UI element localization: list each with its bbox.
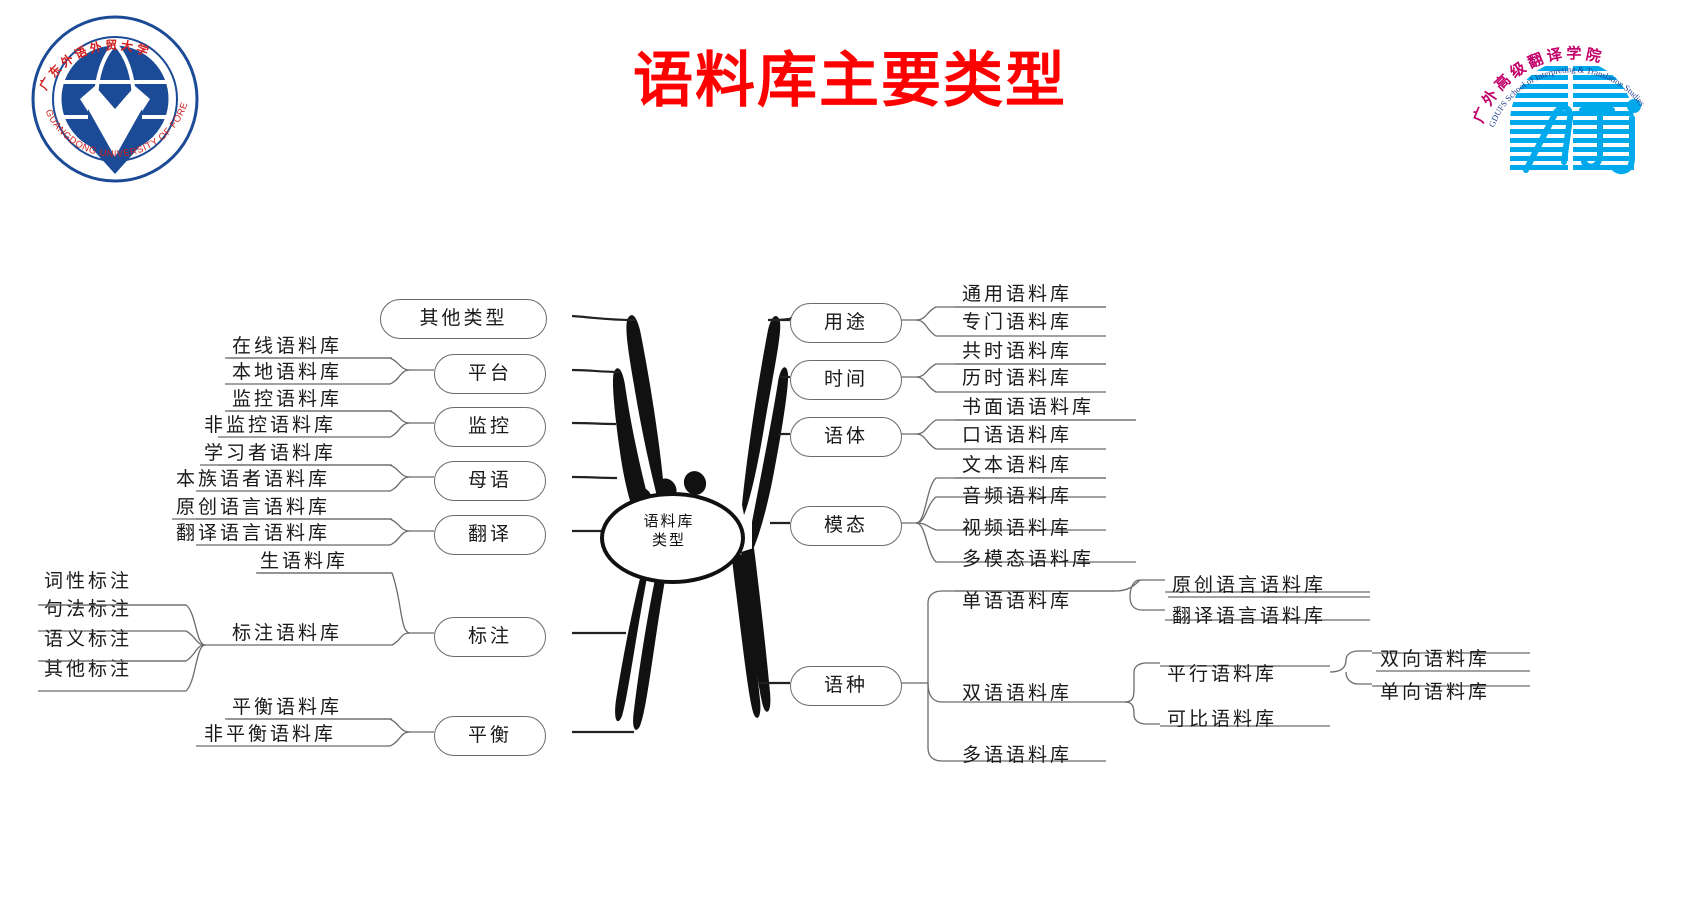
- branch-register[interactable]: 语体: [790, 417, 902, 457]
- leaf-spoken-corpus[interactable]: 口语语料库: [958, 424, 1076, 449]
- branch-time[interactable]: 时间: [790, 360, 902, 400]
- leaf-general-corpus[interactable]: 通用语料库: [958, 283, 1076, 308]
- leaf-original-language-corpus-right[interactable]: 原创语言语料库: [1168, 574, 1330, 599]
- root-node-label: 语料库类型: [610, 513, 728, 551]
- leaf-text-corpus[interactable]: 文本语料库: [958, 454, 1076, 479]
- leaf-translated-language-corpus-right[interactable]: 翻译语言语料库: [1168, 605, 1330, 630]
- leaf-other-annotation[interactable]: 其他标注: [40, 658, 136, 683]
- branch-purpose[interactable]: 用途: [790, 303, 902, 343]
- branch-platform[interactable]: 平台: [434, 354, 546, 394]
- leaf-original-language-corpus[interactable]: 原创语言语料库: [172, 496, 334, 521]
- leaf-unbalanced-corpus[interactable]: 非平衡语料库: [200, 723, 340, 748]
- mindmap-diagram: 语料库类型 其他类型 平台 监控 母语 翻译 标注 平衡 在线语料库 本地语料库…: [0, 0, 1700, 901]
- leaf-multimodal-corpus[interactable]: 多模态语料库: [958, 548, 1098, 573]
- leaf-monitor-corpus[interactable]: 监控语料库: [228, 388, 346, 413]
- leaf-bilingual-corpus[interactable]: 双语语料库: [958, 682, 1076, 707]
- leaf-pos-annotation[interactable]: 词性标注: [40, 570, 136, 595]
- leaf-native-speaker-corpus[interactable]: 本族语者语料库: [172, 468, 334, 493]
- leaf-comparable-corpus[interactable]: 可比语料库: [1163, 708, 1281, 733]
- leaf-synchronic-corpus[interactable]: 共时语料库: [958, 340, 1076, 365]
- leaf-video-corpus[interactable]: 视频语料库: [958, 517, 1076, 542]
- leaf-annotated-corpus[interactable]: 标注语料库: [228, 622, 346, 647]
- leaf-audio-corpus[interactable]: 音频语料库: [958, 485, 1076, 510]
- branch-annotation[interactable]: 标注: [434, 617, 546, 657]
- branch-monitoring[interactable]: 监控: [434, 407, 546, 447]
- leaf-specialized-corpus[interactable]: 专门语料库: [958, 311, 1076, 336]
- branch-other-type[interactable]: 其他类型: [380, 299, 547, 339]
- leaf-diachronic-corpus[interactable]: 历时语料库: [958, 367, 1076, 392]
- leaf-semantic-annotation[interactable]: 语义标注: [40, 628, 136, 653]
- leaf-syntactic-annotation[interactable]: 句法标注: [40, 598, 136, 623]
- branch-native-language[interactable]: 母语: [434, 461, 546, 501]
- branch-modality[interactable]: 模态: [790, 506, 902, 546]
- leaf-non-monitor-corpus[interactable]: 非监控语料库: [200, 414, 340, 439]
- leaf-monolingual-corpus[interactable]: 单语语料库: [958, 590, 1076, 615]
- leaf-balanced-corpus[interactable]: 平衡语料库: [228, 696, 346, 721]
- leaf-parallel-corpus[interactable]: 平行语料库: [1163, 663, 1281, 688]
- leaf-written-corpus[interactable]: 书面语语料库: [958, 396, 1098, 421]
- branch-language-type[interactable]: 语种: [790, 666, 902, 706]
- leaf-raw-corpus[interactable]: 生语料库: [256, 550, 352, 575]
- leaf-learner-corpus[interactable]: 学习者语料库: [200, 442, 340, 467]
- leaf-bidirectional-corpus[interactable]: 双向语料库: [1376, 648, 1494, 673]
- leaf-translated-language-corpus[interactable]: 翻译语言语料库: [172, 522, 334, 547]
- branch-balance[interactable]: 平衡: [434, 716, 546, 756]
- leaf-unidirectional-corpus[interactable]: 单向语料库: [1376, 681, 1494, 706]
- leaf-multilingual-corpus[interactable]: 多语语料库: [958, 744, 1076, 769]
- leaf-local-corpus[interactable]: 本地语料库: [228, 361, 346, 386]
- branch-translation[interactable]: 翻译: [434, 515, 546, 555]
- leaf-online-corpus[interactable]: 在线语料库: [228, 335, 346, 360]
